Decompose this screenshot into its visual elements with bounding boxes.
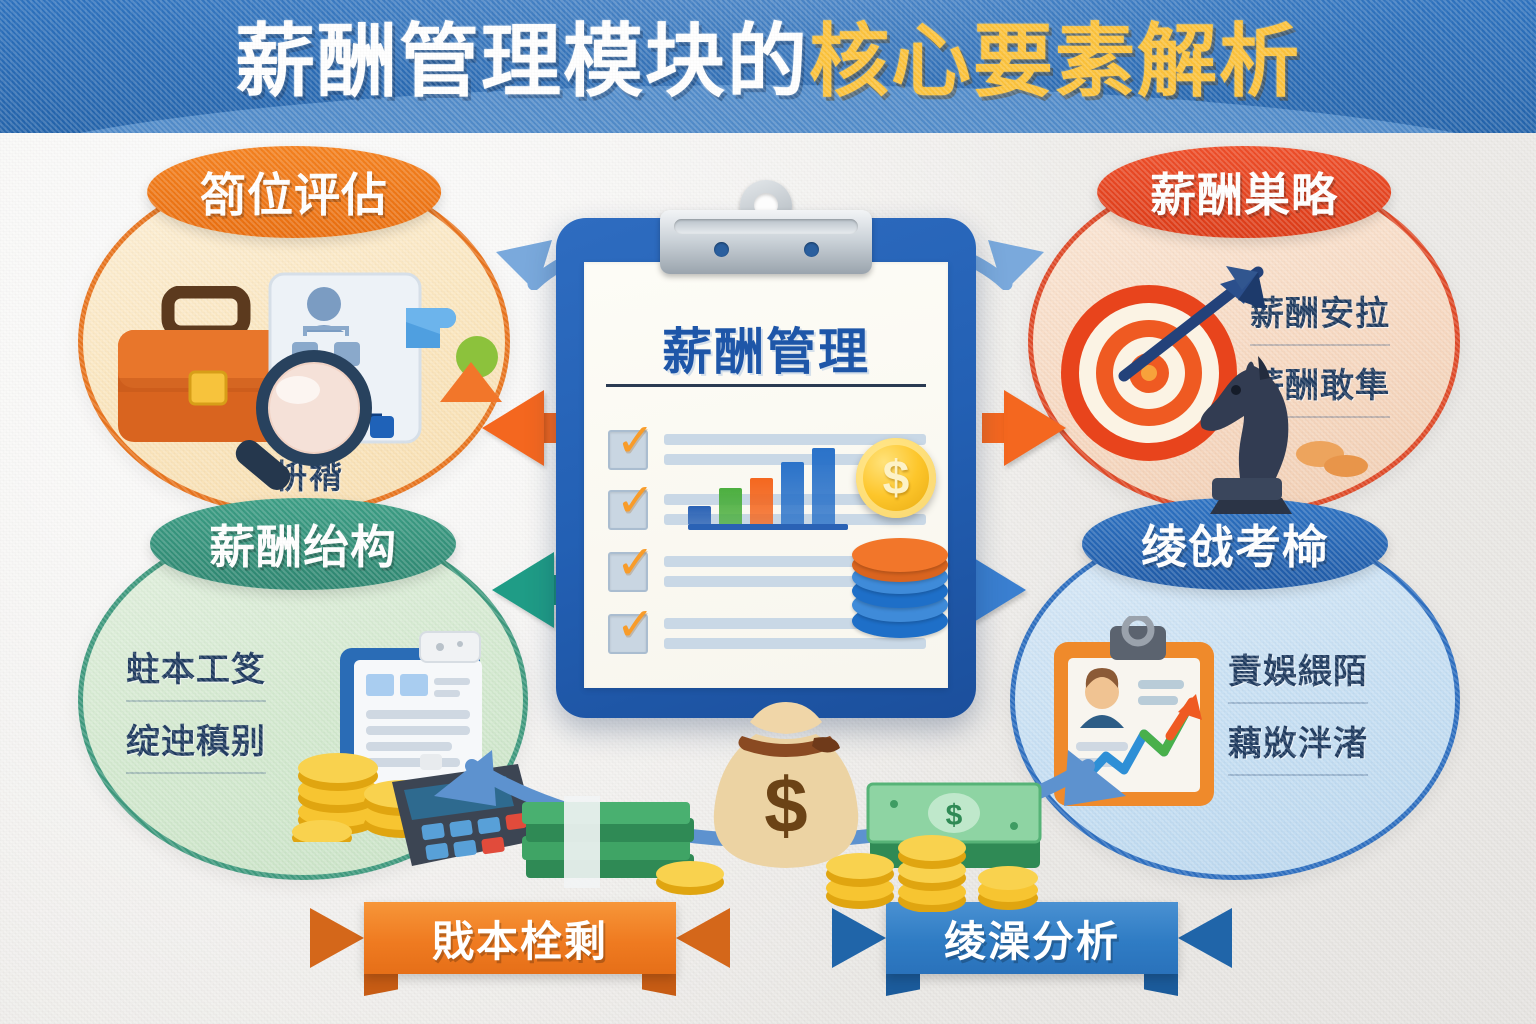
ribbon-performance-analysis[interactable]: 绫澡分析 [832, 902, 1232, 974]
magnifying-glass-icon [218, 346, 398, 521]
quadrant-title-pill: 箚位评佔 [147, 146, 441, 238]
check-icon: ✓ [616, 542, 664, 582]
quadrant-title: 薪酬巣略 [1150, 159, 1338, 225]
ribbon-cost-control[interactable]: 戝本栓剩 [310, 902, 730, 974]
arrow-right-orange-shaft [982, 413, 1006, 443]
sub-item: 蛀本工笅 [126, 642, 266, 702]
ribbon-fold-left [364, 974, 398, 996]
ribbon-tail-left [832, 908, 886, 968]
quadrant-sub-list: 責娛䋿陌 藕敚泮渚 [1228, 644, 1368, 788]
page-title-main: 薪酬管理模块的 [235, 17, 809, 106]
ribbon-body: 戝本栓剩 [364, 902, 676, 974]
quadrant-title: 绫戗考椧 [1141, 511, 1329, 577]
clipboard-divider [606, 384, 926, 387]
stack-disc [852, 538, 948, 572]
page-title-accent: 核心要素解析 [809, 17, 1301, 106]
chart-bar [812, 448, 835, 524]
chart-bar [781, 462, 804, 524]
ribbon-tail-left [310, 908, 364, 968]
shadow-blob [1294, 436, 1370, 480]
ribbon-tail-right [1178, 908, 1232, 968]
clamp-rivet [804, 242, 819, 257]
ribbon-fold-right [642, 974, 676, 996]
ribbon-label: 绫澡分析 [944, 908, 1120, 969]
chart-bar [688, 506, 711, 524]
clipboard-clamp [660, 180, 872, 276]
clipboard-title: 薪酬管理 [584, 312, 948, 384]
check-icon: ✓ [616, 420, 664, 460]
ribbon-label: 戝本栓剩 [432, 908, 608, 969]
sub-item: 绽迚稹别 [126, 714, 266, 774]
infographic-canvas: 薪酬管理模块的核心要素解析 [0, 0, 1536, 1024]
arrow-left-orange-icon [482, 390, 544, 466]
ribbon-fold-right [1144, 974, 1178, 996]
mini-bar-chart [688, 444, 848, 530]
check-icon: ✓ [616, 480, 664, 520]
coin-pile-icon [818, 812, 1048, 912]
clamp-slot [674, 219, 858, 234]
chart-bar [719, 488, 742, 524]
quadrant-pay-strategy[interactable]: 薪酬巣略 薪酬安拉 薪酬敢隼 [1028, 168, 1460, 516]
clipboard-paper: 薪酬管理 ✓ ✓ ✓ ✓ [584, 262, 948, 688]
svg-text:$: $ [764, 761, 807, 849]
clamp-rivet [714, 242, 729, 257]
chart-axis [688, 524, 848, 530]
clipboard-clamp-bar [660, 210, 872, 274]
single-coin-icon [652, 856, 728, 896]
chess-knight-icon [1162, 340, 1312, 518]
quadrant-title-pill: 薪酬巣略 [1097, 146, 1391, 238]
ribbon-body: 绫澡分析 [886, 902, 1178, 974]
coin-database-stack-icon [852, 544, 948, 640]
quadrant-job-evaluation[interactable]: 箚位评佔 枡褙 [78, 168, 510, 516]
arrow-right-orange-icon [1004, 390, 1066, 466]
dollar-coin-icon: $ [856, 438, 936, 518]
page-title: 薪酬管理模块的核心要素解析 [0, 22, 1536, 102]
quadrant-sub-list: 蛀本工笅 绽迚稹别 [126, 642, 266, 786]
ribbon-fold-left [886, 974, 920, 996]
chart-bar [750, 478, 773, 524]
ribbon-tail-right [676, 908, 730, 968]
arrow-left-teal-icon [492, 552, 554, 628]
quadrant-title: 箚位评佔 [200, 159, 388, 225]
check-icon: ✓ [616, 604, 664, 644]
sub-item: 藕敚泮渚 [1228, 716, 1368, 776]
header-banner: 薪酬管理模块的核心要素解析 [0, 0, 1536, 133]
sub-item: 責娛䋿陌 [1228, 644, 1368, 704]
center-clipboard[interactable]: 薪酬管理 ✓ ✓ ✓ ✓ [556, 218, 976, 718]
